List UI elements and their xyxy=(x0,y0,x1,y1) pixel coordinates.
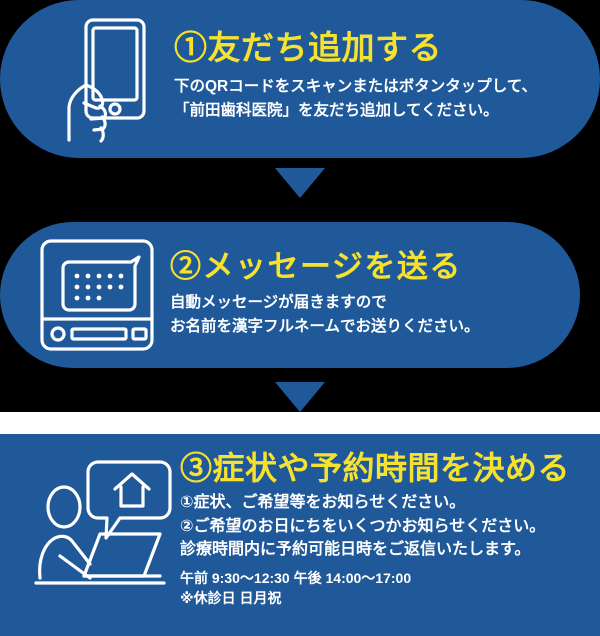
step-text-2: ②メッセージを送る 自動メッセージが届きますので お名前を漢字フルネームでお送り… xyxy=(158,251,580,339)
down-arrow-icon xyxy=(275,382,325,412)
step-title-1: ①友だち追加する xyxy=(174,33,600,66)
closed-days-note: ※休診日 日月祝 xyxy=(180,588,600,608)
step-title-2: ②メッセージを送る xyxy=(170,251,580,282)
step-text-3: ③症状や予約時間を決める ①症状、ご希望等をお知らせください。 ②ご希望のお日に… xyxy=(174,434,600,608)
step-card-3: ③症状や予約時間を決める ①症状、ご希望等をお知らせください。 ②ご希望のお日に… xyxy=(0,434,600,636)
step-card-1: ①友だち追加する 下のQRコードをスキャンまたはボタンタップして、 「前田歯科医… xyxy=(0,0,600,158)
step-body-line: 「前田歯科医院」を友だち追加してください。 xyxy=(174,99,600,123)
smartphone-in-hand-icon xyxy=(56,15,160,143)
section-divider-band xyxy=(0,412,600,434)
message-device-icon xyxy=(36,236,158,354)
step-body-line: 自動メッセージが届きますので xyxy=(170,291,580,315)
down-arrow-icon xyxy=(275,168,325,198)
step-body-line: 診療時間内に予約可能日時をご返信いたします。 xyxy=(180,538,600,562)
step-body-line: お名前を漢字フルネームでお送りください。 xyxy=(170,315,580,339)
flow-steps-graphic: ①友だち追加する 下のQRコードをスキャンまたはボタンタップして、 「前田歯科医… xyxy=(0,0,600,636)
step-title-3: ③症状や予約時間を決める xyxy=(180,452,600,484)
clinic-hours-note: 午前 9:30〜12:30 午後 14:00〜17:00 xyxy=(180,568,600,588)
step-body-line: ②ご希望のお日にちをいくつかお知らせください。 xyxy=(180,515,600,539)
step-card-2: ②メッセージを送る 自動メッセージが届きますので お名前を漢字フルネームでお送り… xyxy=(0,222,580,368)
step-body-line: 下のQRコードをスキャンまたはボタンタップして、 xyxy=(174,75,600,99)
person-at-laptop-icon xyxy=(28,456,174,594)
step-text-1: ①友だち追加する 下のQRコードをスキャンまたはボタンタップして、 「前田歯科医… xyxy=(160,33,600,125)
step-body-line: ①症状、ご希望等をお知らせください。 xyxy=(180,491,600,515)
